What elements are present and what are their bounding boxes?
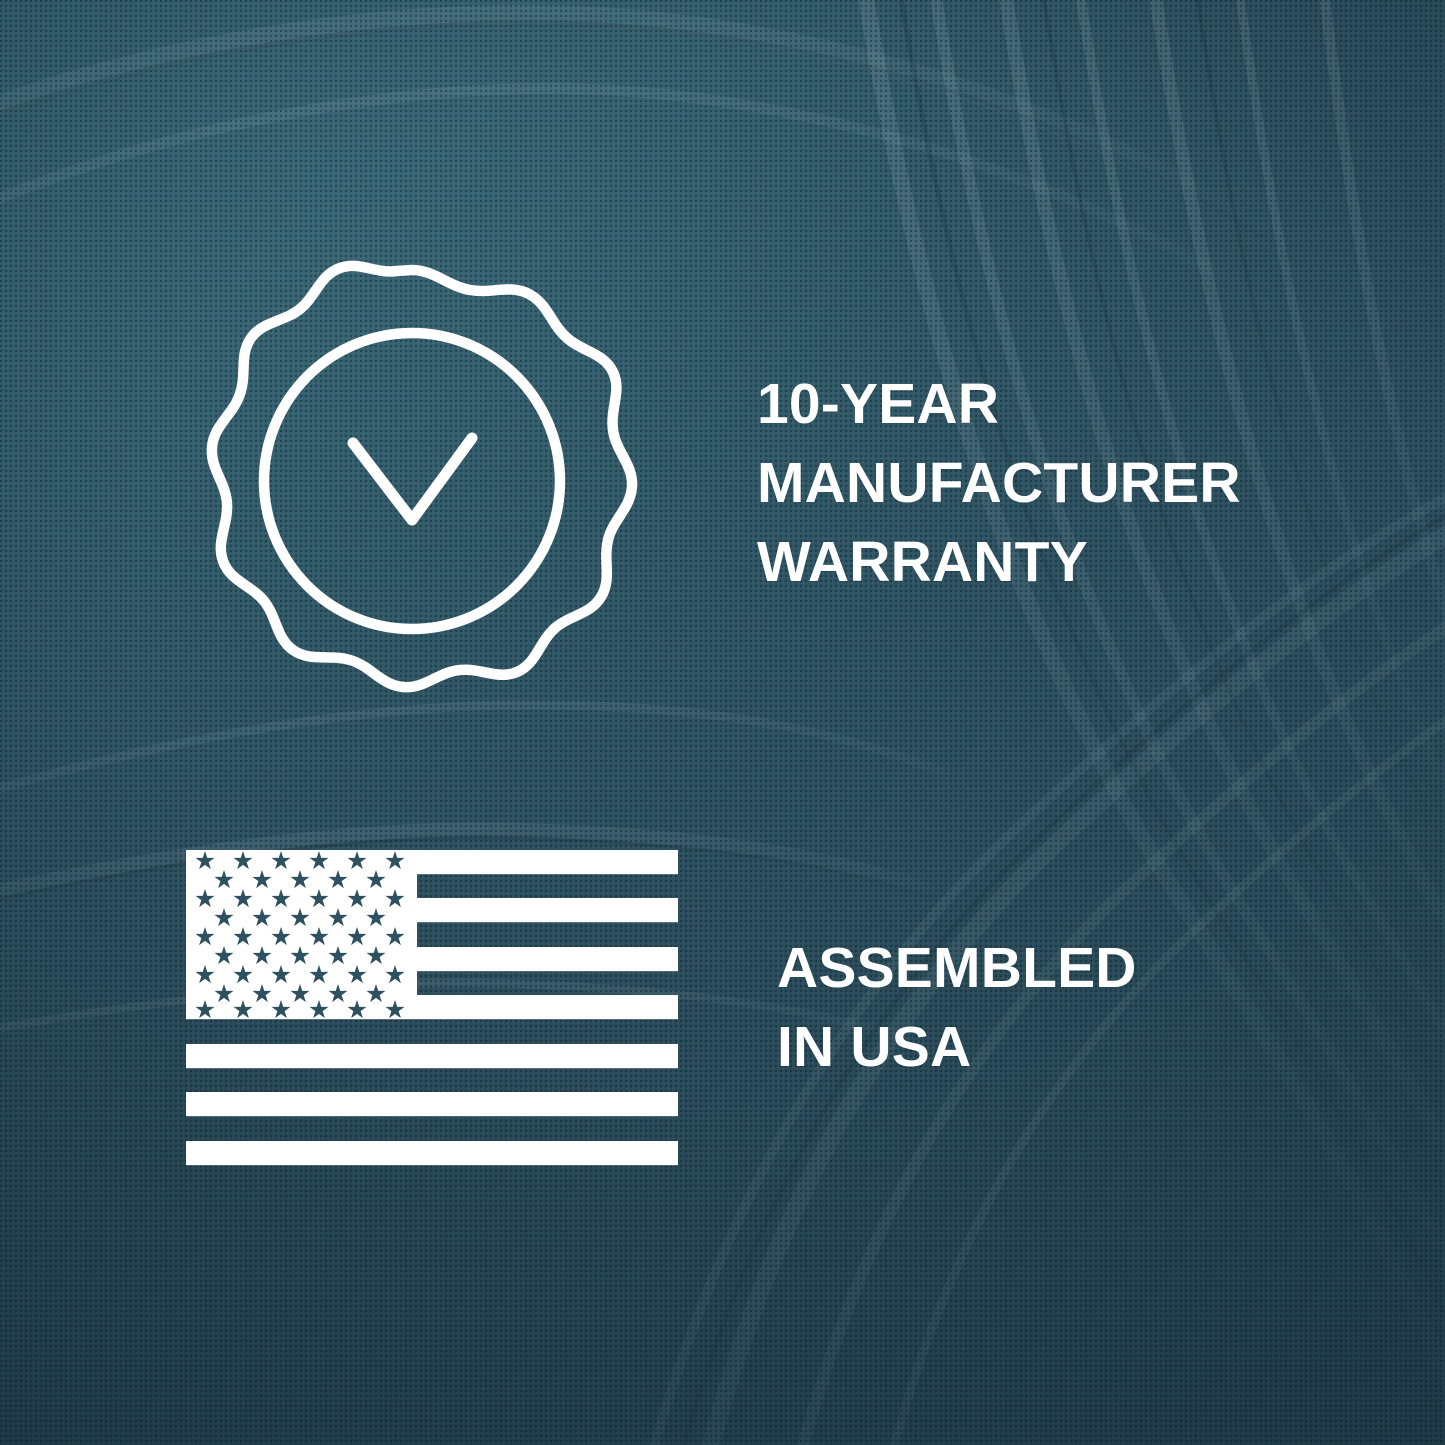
feature-assembled-in-usa: ASSEMBLED IN USA <box>178 832 1358 1184</box>
usa-line-1: ASSEMBLED <box>777 929 1137 1008</box>
usa-headline-block: ASSEMBLED IN USA <box>777 929 1137 1087</box>
usa-line-2: IN USA <box>777 1008 1137 1087</box>
warranty-line-1: 10-YEAR <box>757 365 1241 444</box>
warranty-line-3: WARRANTY <box>757 523 1241 602</box>
verified-badge-seal-icon <box>178 238 678 728</box>
warranty-headline-block: 10-YEAR MANUFACTURER WARRANTY <box>757 365 1241 602</box>
warranty-line-2: MANUFACTURER <box>757 444 1241 523</box>
usa-flag-icon <box>178 832 678 1184</box>
feature-warranty: 10-YEAR MANUFACTURER WARRANTY <box>178 238 1358 728</box>
promo-graphic-canvas: 10-YEAR MANUFACTURER WARRANTY <box>0 0 1445 1445</box>
